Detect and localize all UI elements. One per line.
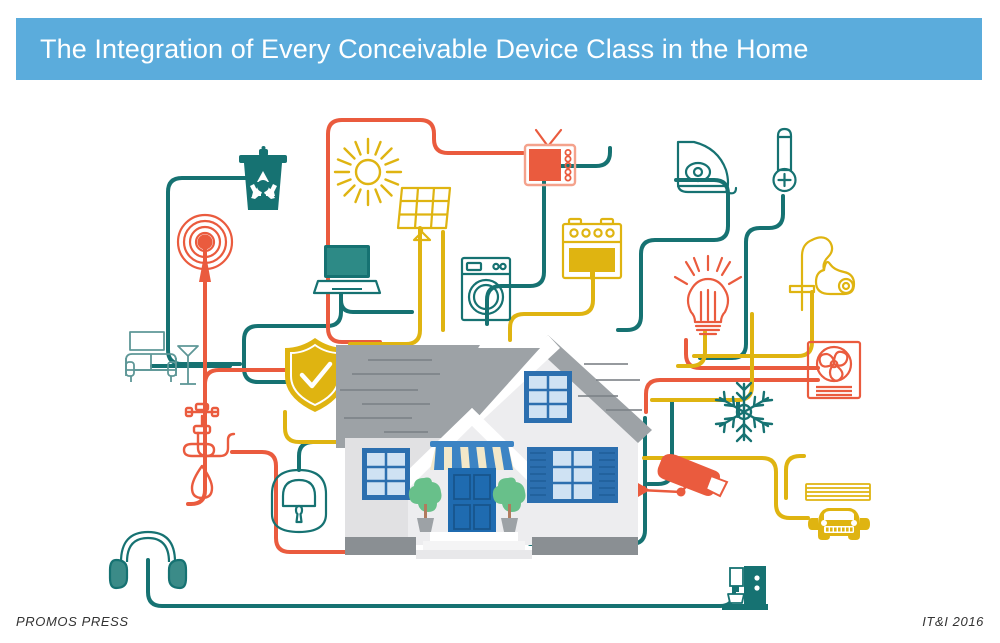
smart-home-diagram — [0, 0, 1000, 643]
television-icon — [525, 130, 575, 185]
car-garage-icon — [806, 484, 870, 540]
page-title: The Integration of Every Conceivable Dev… — [40, 18, 808, 80]
house-awning — [430, 441, 514, 470]
light-bulb-icon — [675, 256, 741, 334]
snowflake-icon — [716, 383, 772, 441]
footer-publisher: PROMOS PRESS — [16, 614, 129, 629]
house-window-upper — [524, 371, 572, 423]
vacuum-cleaner-icon — [790, 237, 854, 310]
laptop-icon — [314, 245, 380, 293]
sofa-lamp-icon — [126, 332, 198, 384]
house-window-right — [527, 447, 618, 503]
water-faucet-icon — [184, 404, 234, 498]
wifi-antenna-icon — [178, 215, 232, 282]
recycle-bin-icon — [239, 146, 287, 210]
house-window-left — [362, 448, 410, 500]
security-camera-icon — [638, 454, 727, 497]
smart-home-house — [336, 335, 652, 559]
house-steps — [416, 532, 532, 559]
thermometer-icon — [774, 129, 796, 191]
footer-attribution: IT&I 2016 — [922, 614, 984, 629]
header-banner: The Integration of Every Conceivable Dev… — [16, 18, 982, 80]
clothes-iron-icon — [678, 142, 736, 193]
oven-icon — [563, 219, 621, 278]
sun-icon — [335, 139, 401, 205]
infographic-poster: The Integration of Every Conceivable Dev… — [0, 0, 1000, 643]
padlock-icon — [272, 470, 326, 532]
